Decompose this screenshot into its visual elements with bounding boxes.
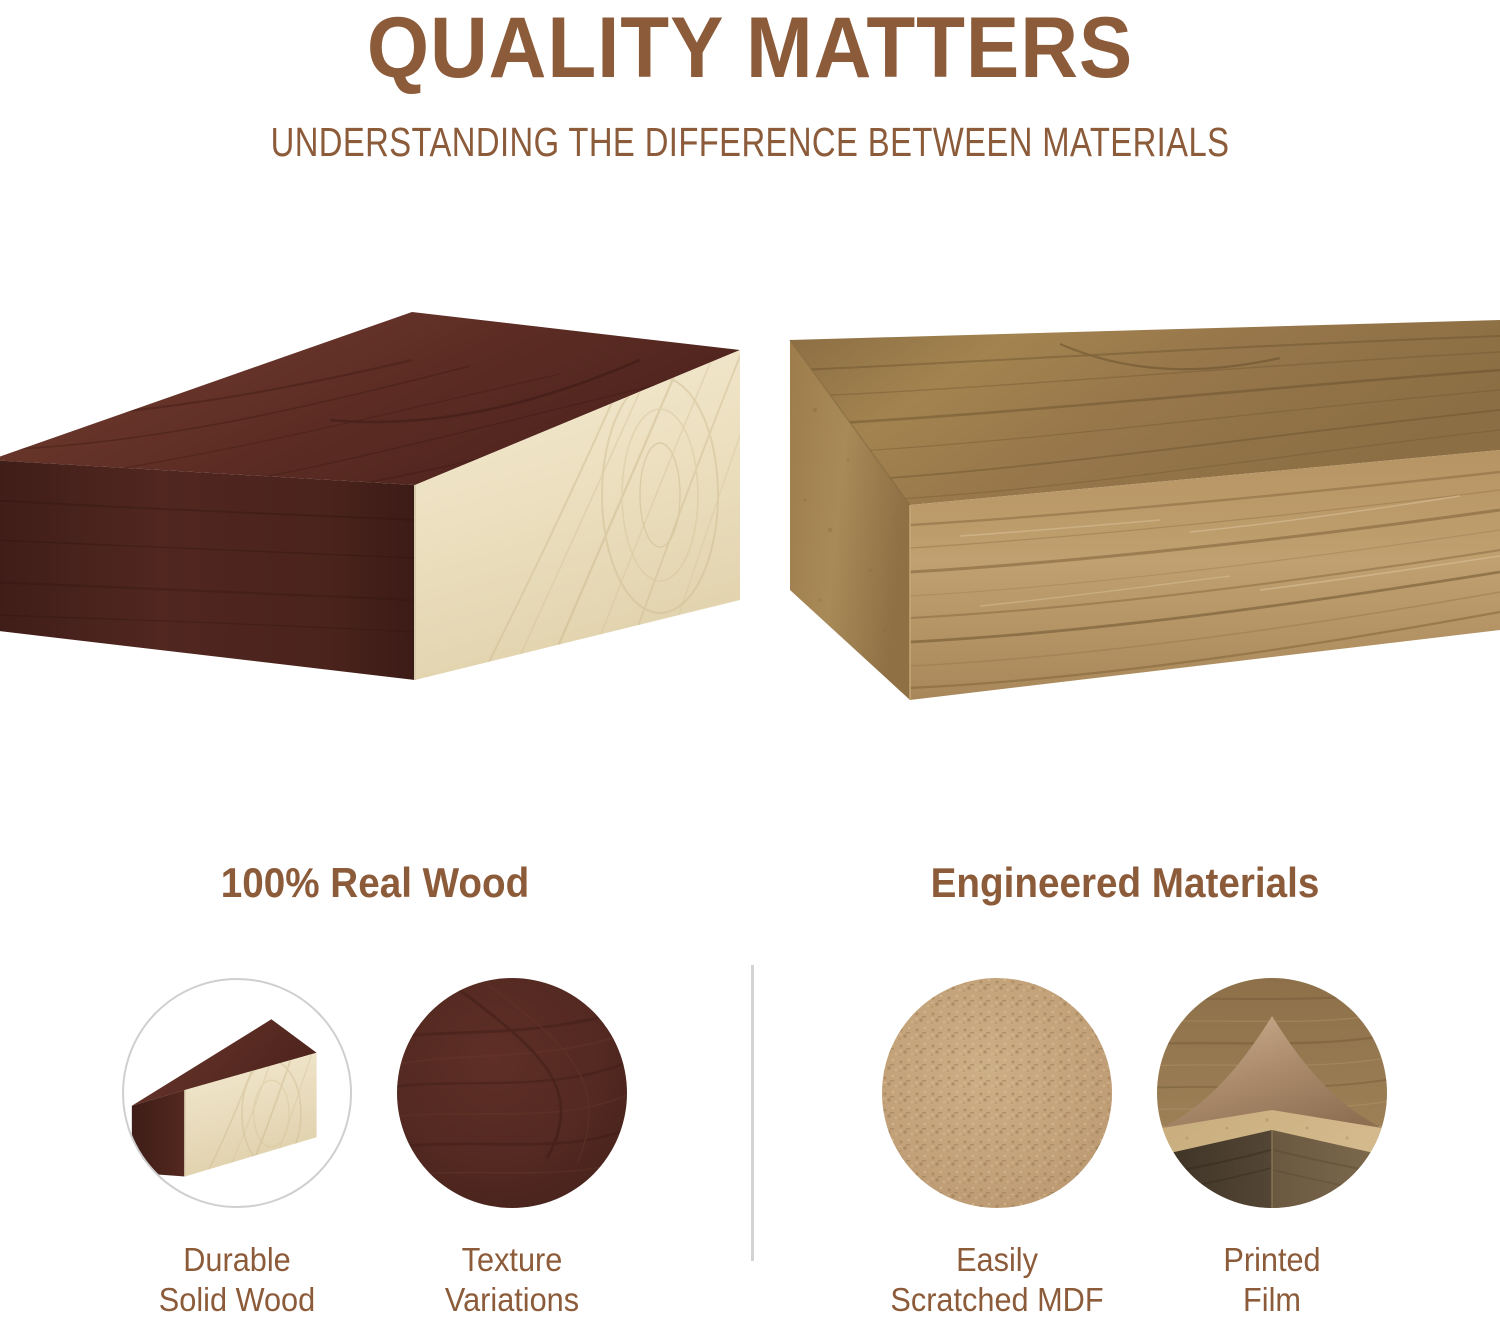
header-block: QUALITY MATTERS UNDERSTANDING THE DIFFER… [0,0,1500,190]
peeling-printed-film-icon [1157,978,1387,1208]
walnut-grain-swatch-icon [397,978,627,1208]
hero-image-row [0,300,1500,720]
feature-durable-solid-wood: Durable Solid Wood [122,978,352,1319]
feature-easily-scratched-mdf: Easily Scratched MDF [882,978,1112,1319]
page-title: QUALITY MATTERS [53,2,1448,94]
column-divider [751,965,754,1261]
mdf-particle-swatch-icon [882,978,1112,1208]
solid-wood-cutaway-icon [122,978,352,1208]
feature-texture-variations: Texture Variations [397,978,627,1319]
feature-caption-texture: Texture Variations [405,1240,619,1319]
column-heading-solid-wood: 100% Real Wood [67,855,683,911]
feature-caption-durable: Durable Solid Wood [130,1240,344,1319]
feature-caption-film: Printed Film [1165,1240,1379,1319]
feature-caption-mdf: Easily Scratched MDF [858,1240,1137,1319]
page-subtitle: UNDERSTANDING THE DIFFERENCE BETWEEN MAT… [150,118,1350,166]
engineered-board-photo [760,300,1500,720]
column-heading-engineered: Engineered Materials [817,855,1433,911]
feature-printed-film: Printed Film [1157,978,1387,1319]
solid-wood-shelf-photo [0,300,740,720]
